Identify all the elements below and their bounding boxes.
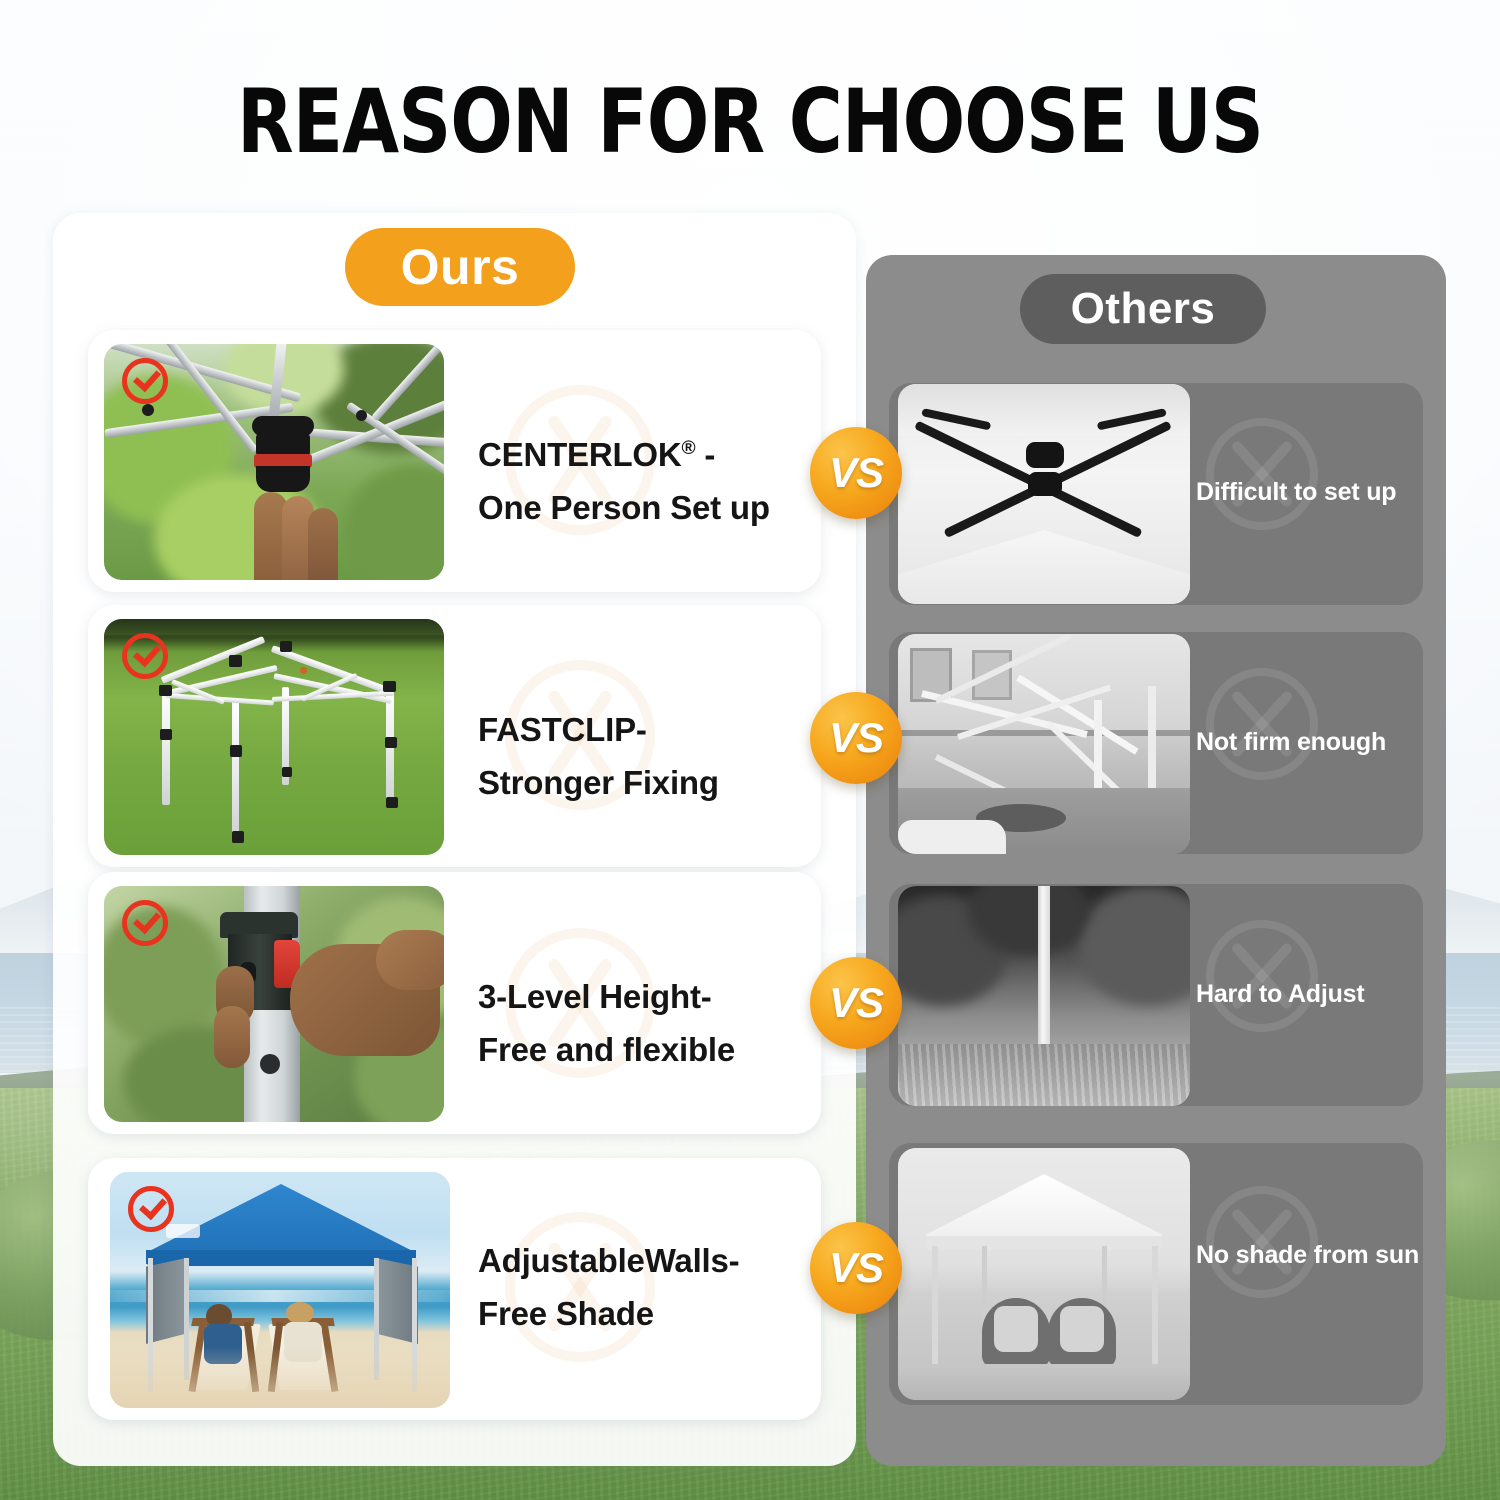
others-label-4: No shade from sun bbox=[1196, 1241, 1419, 1270]
ours-label-4: AdjustableWalls- Free Shade bbox=[478, 1234, 808, 1341]
others-label-2: Not firm enough bbox=[1196, 728, 1386, 757]
ours-label-2-line2: Stronger Fixing bbox=[478, 764, 719, 801]
check-circle-icon bbox=[122, 900, 168, 946]
others-badge-label: Others bbox=[1071, 284, 1216, 334]
ours-photo-1 bbox=[104, 344, 444, 580]
ours-label-2: FASTCLIP- Stronger Fixing bbox=[478, 703, 808, 810]
others-photo-4-scene bbox=[898, 1148, 1190, 1400]
ours-label-1-line2: One Person Set up bbox=[478, 489, 770, 526]
x-circle-icon bbox=[1206, 920, 1318, 1032]
x-circle-icon bbox=[1206, 668, 1318, 780]
vs-badge-2: VS bbox=[810, 692, 902, 784]
ours-label-1: CENTERLOK® - One Person Set up bbox=[478, 428, 808, 535]
ours-photo-4 bbox=[110, 1172, 450, 1408]
others-photo-4 bbox=[898, 1148, 1190, 1400]
check-circle-icon bbox=[122, 633, 168, 679]
x-circle-icon bbox=[1206, 418, 1318, 530]
page-title: REASON FOR CHOOSE US bbox=[53, 78, 1448, 166]
ours-label-1-line1-tail: - bbox=[695, 436, 715, 473]
others-badge: Others bbox=[1020, 274, 1266, 344]
others-label-3: Hard to Adjust bbox=[1196, 980, 1365, 1009]
vs-badge-4: VS bbox=[810, 1222, 902, 1314]
check-circle-icon bbox=[122, 358, 168, 404]
vs-label: VS bbox=[829, 714, 883, 762]
ours-photo-2 bbox=[104, 619, 444, 855]
ours-label-3: 3-Level Height- Free and flexible bbox=[478, 970, 808, 1077]
registered-mark-icon: ® bbox=[682, 438, 696, 459]
others-photo-3-scene bbox=[898, 886, 1190, 1106]
others-photo-1 bbox=[898, 384, 1190, 604]
ours-badge: Ours bbox=[345, 228, 575, 306]
others-photo-1-scene bbox=[898, 384, 1190, 604]
others-photo-2-scene bbox=[898, 634, 1190, 854]
ours-label-1-line1: CENTERLOK bbox=[478, 436, 682, 473]
vs-label: VS bbox=[829, 449, 883, 497]
ours-label-4-line2: Free Shade bbox=[478, 1295, 654, 1332]
check-circle-icon bbox=[128, 1186, 174, 1232]
vs-badge-3: VS bbox=[810, 957, 902, 1049]
ours-label-4-line1: AdjustableWalls- bbox=[478, 1242, 739, 1279]
vs-label: VS bbox=[829, 1244, 883, 1292]
ours-photo-3 bbox=[104, 886, 444, 1122]
vs-badge-1: VS bbox=[810, 427, 902, 519]
ours-label-2-line1: FASTCLIP- bbox=[478, 711, 647, 748]
ours-label-3-line1: 3-Level Height- bbox=[478, 978, 712, 1015]
ours-label-3-line2: Free and flexible bbox=[478, 1031, 735, 1068]
others-photo-3 bbox=[898, 886, 1190, 1106]
vs-label: VS bbox=[829, 979, 883, 1027]
others-photo-2 bbox=[898, 634, 1190, 854]
infographic-page: REASON FOR CHOOSE US Ours Others bbox=[0, 0, 1500, 1500]
others-label-1: Difficult to set up bbox=[1196, 478, 1396, 507]
ours-badge-label: Ours bbox=[401, 238, 520, 296]
